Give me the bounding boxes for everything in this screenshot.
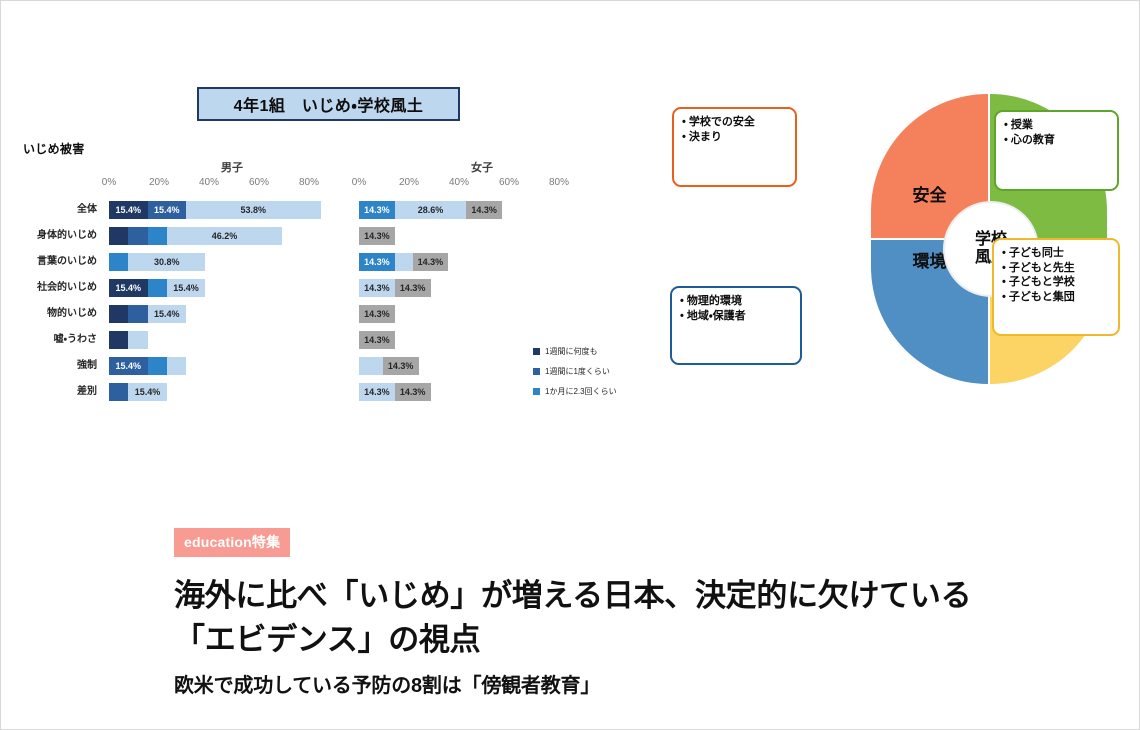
callout-environment: 物理的環境地域・保護者 [670, 286, 802, 365]
stacked-bar: 14.3%14.3% [359, 279, 431, 297]
bar-segment: 53.8% [186, 201, 321, 219]
bar-segment: 15.4% [109, 357, 148, 375]
axis-tick: 20% [149, 177, 169, 188]
bar-segment: 15.4% [167, 279, 206, 297]
category-label: 言葉のいじめ [15, 249, 103, 275]
callout-item: 学校での安全 [682, 115, 787, 130]
bar-row: 14.3%14.3% [359, 249, 584, 275]
chart-legend: 1週間に何度も1週間に1度くらい1か月に2.3回くらい [533, 341, 617, 401]
stacked-bar: 14.3%14.3% [359, 383, 431, 401]
bar-segment [148, 357, 167, 375]
stacked-bar [109, 331, 148, 349]
axis-tick: 80% [549, 177, 569, 188]
bar-segment: 14.3% [383, 357, 419, 375]
category-label: 物的いじめ [15, 301, 103, 327]
bar-row: 14.3%14.3% [359, 275, 584, 301]
bar-segment: 14.3% [359, 201, 395, 219]
callout-item: 授業 [1004, 118, 1109, 133]
bar-segment: 15.4% [109, 279, 148, 297]
bar-segment: 14.3% [413, 253, 449, 271]
bar-row [109, 327, 334, 353]
stacked-bar: 14.3% [359, 357, 419, 375]
chart-heading: いじめ被害 [23, 140, 85, 157]
plot-area-male: 15.4%15.4%53.8%46.2%30.8%15.4%15.4%15.4%… [109, 197, 334, 405]
bar-segment: 15.4% [109, 201, 148, 219]
category-label: 社会的いじめ [15, 275, 103, 301]
bar-segment [109, 383, 128, 401]
bar-segment [359, 357, 383, 375]
legend-swatch-icon [533, 368, 540, 375]
legend-item: 1か月に2.3回くらい [533, 381, 617, 401]
bar-segment [128, 331, 147, 349]
callout-item: 子ども同士 [1002, 246, 1110, 261]
category-label: 強制 [15, 353, 103, 379]
stacked-bar: 46.2% [109, 227, 282, 245]
callout-relations-list: 子ども同士子どもと先生子どもと学校子どもと集団 [1002, 246, 1110, 304]
callout-environment-list: 物理的環境地域・保護者 [680, 294, 792, 323]
bar-row: 14.3%28.6%14.3% [359, 197, 584, 223]
stacked-bar: 14.3%28.6%14.3% [359, 201, 502, 219]
bar-segment [128, 305, 147, 323]
bar-segment: 14.3% [359, 305, 395, 323]
stacked-bar: 15.4% [109, 357, 186, 375]
ijime-chart-panel: 4年1組 いじめ・学校風土 いじめ被害 男子 女子 0%20%40%60%80%… [1, 1, 651, 431]
bar-segment [148, 227, 167, 245]
bar-segment [109, 305, 128, 323]
callout-teaching: 授業心の教育 [994, 110, 1119, 191]
bar-row: 46.2% [109, 223, 334, 249]
bar-segment [109, 253, 128, 271]
bar-segment: 14.3% [466, 201, 502, 219]
stacked-bar: 14.3% [359, 305, 395, 323]
x-axis-male: 0%20%40%60%80% [109, 177, 334, 191]
callout-item: 物理的環境 [680, 294, 792, 309]
axis-tick: 60% [249, 177, 269, 188]
callout-relations: 子ども同士子どもと先生子どもと学校子どもと集団 [992, 238, 1120, 336]
article-block: education特集 海外に比べ「いじめ」が増える日本、決定的に欠けている「エ… [174, 528, 1004, 698]
callout-safety-list: 学校での安全決まり [682, 115, 787, 144]
bar-segment [128, 227, 147, 245]
bar-segment: 30.8% [128, 253, 205, 271]
bar-segment: 15.4% [128, 383, 167, 401]
legend-label: 1か月に2.3回くらい [545, 386, 617, 397]
bar-segment: 14.3% [359, 253, 395, 271]
wheel-label-safety: 安全 [881, 186, 978, 205]
stacked-bar: 14.3% [359, 331, 395, 349]
legend-swatch-icon [533, 388, 540, 395]
bar-segment [109, 331, 128, 349]
stacked-bar: 15.4%15.4% [109, 279, 205, 297]
school-climate-diagram: 安全 教えと 学び 環境 関係性 学校 風土 学校での安全決まり 授業心の教育 … [656, 86, 1126, 396]
bar-segment: 15.4% [148, 305, 187, 323]
bar-segment: 14.3% [359, 331, 395, 349]
callout-item: 子どもと先生 [1002, 261, 1110, 276]
category-label: 身体的いじめ [15, 223, 103, 249]
legend-label: 1週間に1度くらい [545, 366, 610, 377]
bar-row: 15.4%15.4%53.8% [109, 197, 334, 223]
stacked-bar: 15.4% [109, 383, 167, 401]
article-headline[interactable]: 海外に比べ「いじめ」が増える日本、決定的に欠けている「エビデンス」の視点 [174, 574, 1004, 662]
bar-segment [148, 279, 167, 297]
panel-title-female: 女子 [432, 159, 532, 175]
stacked-bar: 15.4% [109, 305, 186, 323]
category-labels: 全体身体的いじめ言葉のいじめ社会的いじめ物的いじめ嘘・うわさ強制差別 [15, 197, 103, 405]
chart-title-box: 4年1組 いじめ・学校風土 [197, 87, 460, 121]
stacked-bar: 15.4%15.4%53.8% [109, 201, 321, 219]
bar-row: 14.3% [359, 223, 584, 249]
bar-segment [109, 227, 128, 245]
callout-item: 決まり [682, 130, 787, 145]
bar-row: 15.4% [109, 353, 334, 379]
bar-segment: 14.3% [359, 383, 395, 401]
x-axis-female: 0%20%40%60%80% [359, 177, 584, 191]
axis-tick: 0% [102, 177, 116, 188]
callout-item: 地域・保護者 [680, 309, 792, 324]
bar-row: 30.8% [109, 249, 334, 275]
callout-item: 子どもと集団 [1002, 290, 1110, 305]
legend-item: 1週間に何度も [533, 341, 617, 361]
axis-tick: 80% [299, 177, 319, 188]
bar-segment: 14.3% [359, 227, 395, 245]
legend-label: 1週間に何度も [545, 346, 597, 357]
article-subheadline: 欧米で成功している予防の8割は「傍観者教育」 [174, 669, 1004, 698]
callout-item: 子どもと学校 [1002, 275, 1110, 290]
stacked-bar: 30.8% [109, 253, 205, 271]
category-badge[interactable]: education特集 [174, 528, 290, 557]
stacked-bar: 14.3%14.3% [359, 253, 448, 271]
axis-tick: 40% [199, 177, 219, 188]
bar-segment: 14.3% [395, 383, 431, 401]
axis-tick: 40% [449, 177, 469, 188]
callout-item: 心の教育 [1004, 133, 1109, 148]
callout-teaching-list: 授業心の教育 [1004, 118, 1109, 147]
axis-tick: 0% [352, 177, 366, 188]
bar-segment: 14.3% [359, 279, 395, 297]
axis-tick: 20% [399, 177, 419, 188]
bar-segment: 15.4% [148, 201, 187, 219]
axis-tick: 60% [499, 177, 519, 188]
bar-row: 14.3% [359, 301, 584, 327]
bar-row: 15.4% [109, 301, 334, 327]
legend-swatch-icon [533, 348, 540, 355]
category-label: 全体 [15, 197, 103, 223]
bar-segment: 14.3% [395, 279, 431, 297]
stacked-bar: 14.3% [359, 227, 395, 245]
category-label: 差別 [15, 379, 103, 405]
category-label: 嘘・うわさ [15, 327, 103, 353]
bar-segment: 46.2% [167, 227, 283, 245]
callout-safety: 学校での安全決まり [672, 107, 797, 187]
bar-row: 15.4%15.4% [109, 275, 334, 301]
bar-segment: 28.6% [395, 201, 467, 219]
page-root: 4年1組 いじめ・学校風土 いじめ被害 男子 女子 0%20%40%60%80%… [0, 0, 1140, 730]
panel-title-male: 男子 [182, 159, 282, 175]
bar-segment [167, 357, 186, 375]
legend-item: 1週間に1度くらい [533, 361, 617, 381]
bar-row: 15.4% [109, 379, 334, 405]
bar-segment [395, 253, 413, 271]
